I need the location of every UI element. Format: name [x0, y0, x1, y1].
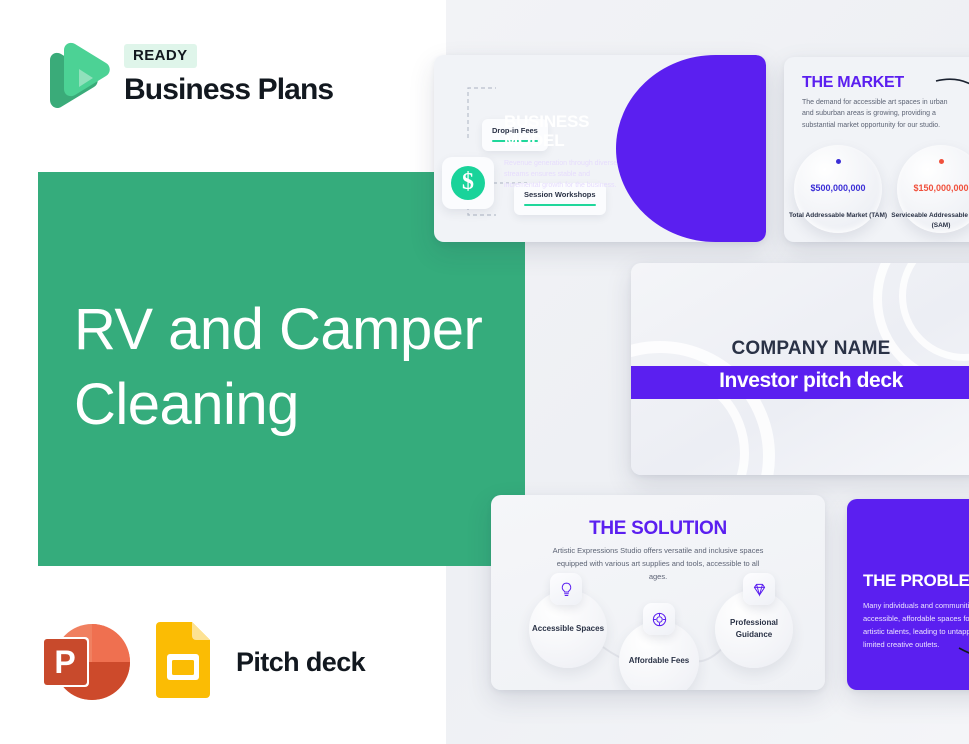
business-model-body: Revenue generation through diverse strea…: [504, 159, 618, 192]
slide-the-market[interactable]: THE MARKET The demand for accessible art…: [784, 57, 969, 242]
curved-arrow-icon: [957, 644, 969, 678]
chip-underline: [524, 204, 596, 206]
svg-text:P: P: [54, 644, 75, 680]
business-model-title: BUSINESS MODEL: [504, 112, 624, 150]
page-title: RV and Camper Cleaning: [74, 292, 544, 443]
market-title: THE MARKET: [802, 74, 904, 92]
poster-canvas: READY Business Plans RV and Camper Clean…: [0, 0, 969, 744]
market-caption: Serviceable Addressable Market (SAM): [891, 211, 969, 231]
company-subtitle: Investor pitch deck: [631, 369, 969, 393]
solution-item-label: Accessible Spaces: [532, 623, 604, 635]
powerpoint-icon[interactable]: P: [40, 619, 132, 705]
solution-item-label: Professional Guidance: [715, 617, 793, 640]
slide-the-problem[interactable]: THE PROBLEM Many individuals and communi…: [847, 499, 969, 690]
market-amount: $500,000,000: [794, 183, 882, 193]
dial-marker-icon: [836, 159, 841, 164]
brand-logo[interactable]: READY Business Plans: [38, 36, 338, 120]
market-amount: $150,000,000: [897, 183, 969, 193]
target-icon: [643, 603, 675, 635]
ready-badge: READY: [124, 44, 197, 68]
google-slides-icon[interactable]: [152, 622, 214, 702]
company-name: COMPANY NAME: [631, 338, 969, 360]
dollar-sign-icon: $: [442, 157, 494, 209]
lightbulb-icon: [550, 573, 582, 605]
slide-the-solution[interactable]: THE SOLUTION Artistic Expressions Studio…: [491, 495, 825, 690]
currency-symbol: $: [451, 166, 485, 200]
brand-name: Business Plans: [124, 73, 333, 107]
diamond-icon: [743, 573, 775, 605]
market-caption: Total Addressable Market (TAM): [788, 211, 888, 221]
format-label: Pitch deck: [236, 647, 365, 678]
play-triangle-logo-icon: [38, 40, 110, 116]
slide-company-name[interactable]: COMPANY NAME Investor pitch deck: [631, 263, 969, 475]
dial-marker-icon: [939, 159, 944, 164]
problem-body: Many individuals and communities lack ac…: [863, 600, 969, 652]
curved-arrow-icon: [934, 75, 969, 115]
brand-logo-text: READY Business Plans: [124, 44, 333, 107]
problem-title: THE PROBLEM: [863, 571, 969, 591]
format-row: P Pitch deck: [40, 616, 365, 708]
slide-business-model[interactable]: $ Drop-in Fees Session Workshops Commiss…: [434, 55, 766, 242]
solution-item-label: Affordable Fees: [629, 655, 689, 667]
